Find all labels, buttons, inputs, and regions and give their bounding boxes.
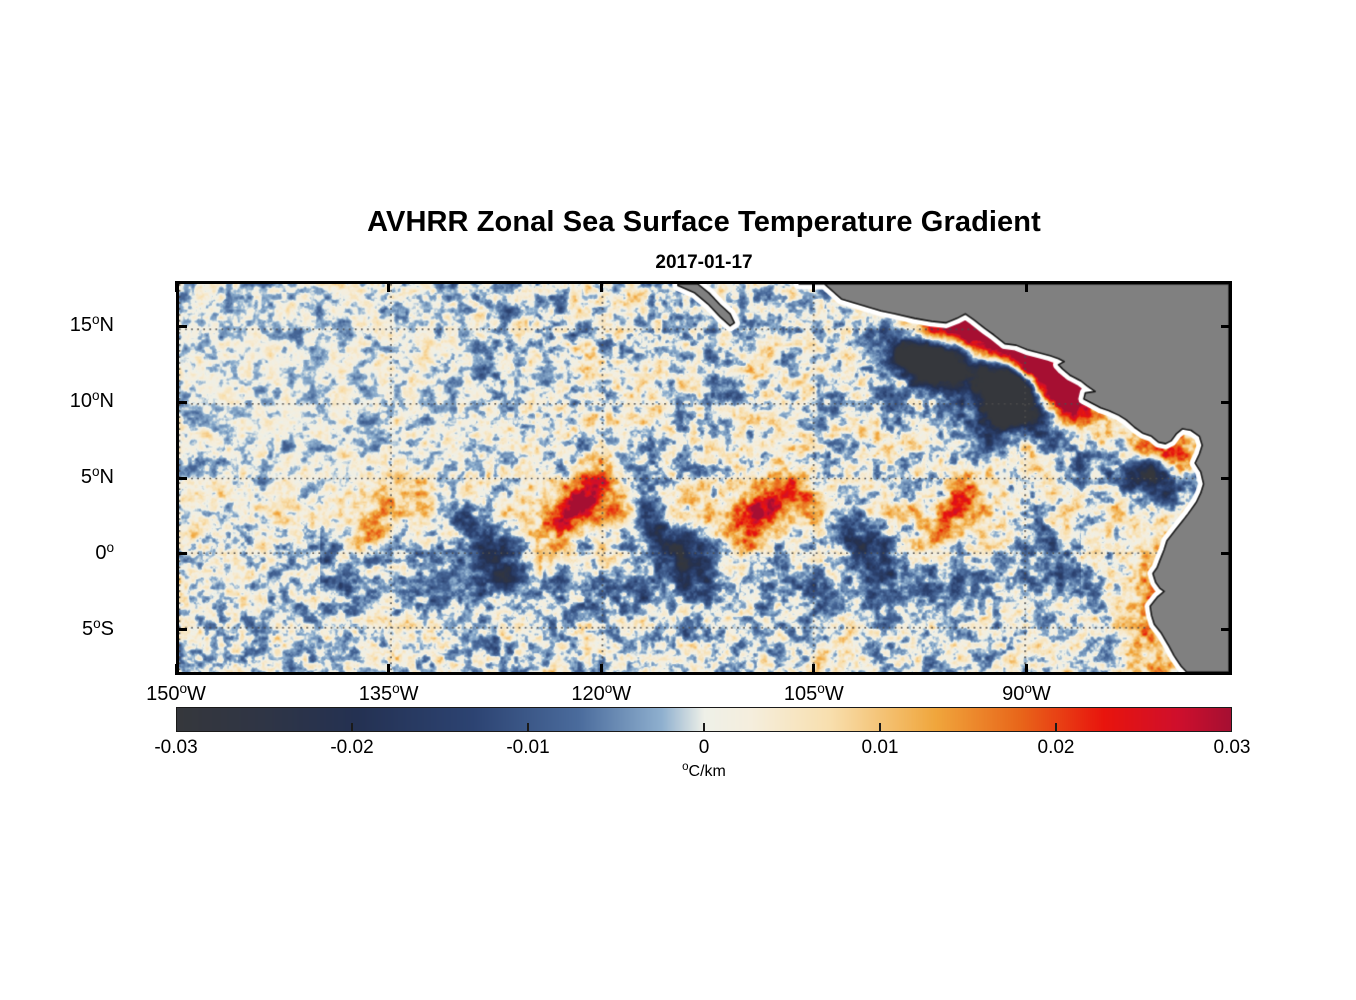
x-tick-bottom — [812, 664, 815, 675]
figure-canvas: AVHRR Zonal Sea Surface Temperature Grad… — [0, 0, 1356, 1000]
colorbar-tick — [879, 723, 881, 731]
colorbar-tick — [351, 723, 353, 731]
x-axis-tick-label: 150oW — [146, 681, 206, 706]
colorbar-tick-label: -0.01 — [506, 737, 549, 759]
x-axis-tick-label: 105oW — [784, 681, 844, 706]
page-title: AVHRR Zonal Sea Surface Temperature Grad… — [176, 206, 1232, 239]
x-tick-bottom — [175, 664, 178, 675]
y-tick-left — [176, 628, 187, 631]
y-axis-tick-label: 15oN — [70, 312, 114, 337]
x-tick-top — [175, 281, 178, 292]
colorbar-tick-label: 0.03 — [1214, 737, 1251, 759]
y-tick-right — [1221, 477, 1232, 480]
sst-gradient-heatmap — [179, 284, 1229, 672]
colorbar-tick-label: -0.02 — [330, 737, 373, 759]
x-tick-top — [812, 281, 815, 292]
x-axis-tick-label: 120oW — [571, 681, 631, 706]
y-axis-tick-label: 5oN — [81, 464, 114, 489]
y-tick-right — [1221, 628, 1232, 631]
map-plot-area — [176, 281, 1232, 675]
colorbar-tick-label: 0.02 — [1038, 737, 1075, 759]
chart-subtitle-date: 2017-01-17 — [176, 252, 1232, 274]
x-tick-top — [387, 281, 390, 292]
y-axis-tick-label: 5oS — [82, 616, 114, 641]
colorbar-tick — [703, 723, 705, 731]
y-tick-right — [1221, 401, 1232, 404]
colorbar-tick-label: -0.03 — [154, 737, 197, 759]
y-tick-left — [176, 325, 187, 328]
x-tick-top — [600, 281, 603, 292]
x-tick-bottom — [387, 664, 390, 675]
y-tick-right — [1221, 552, 1232, 555]
x-axis-tick-label: 135oW — [359, 681, 419, 706]
colorbar-tick — [1055, 723, 1057, 731]
x-tick-top — [1025, 281, 1028, 292]
y-tick-right — [1221, 325, 1232, 328]
y-axis-tick-label: 0o — [95, 540, 114, 565]
colorbar-tick — [527, 723, 529, 731]
y-tick-left — [176, 477, 187, 480]
x-tick-bottom — [1025, 664, 1028, 675]
y-tick-left — [176, 401, 187, 404]
x-tick-bottom — [600, 664, 603, 675]
y-axis-tick-label: 10oN — [70, 388, 114, 413]
y-tick-left — [176, 552, 187, 555]
colorbar-unit-label: oC/km — [176, 761, 1232, 781]
colorbar-tick-label: 0 — [699, 737, 710, 759]
colorbar-tick-label: 0.01 — [862, 737, 899, 759]
x-axis-tick-label: 90oW — [1002, 681, 1051, 706]
